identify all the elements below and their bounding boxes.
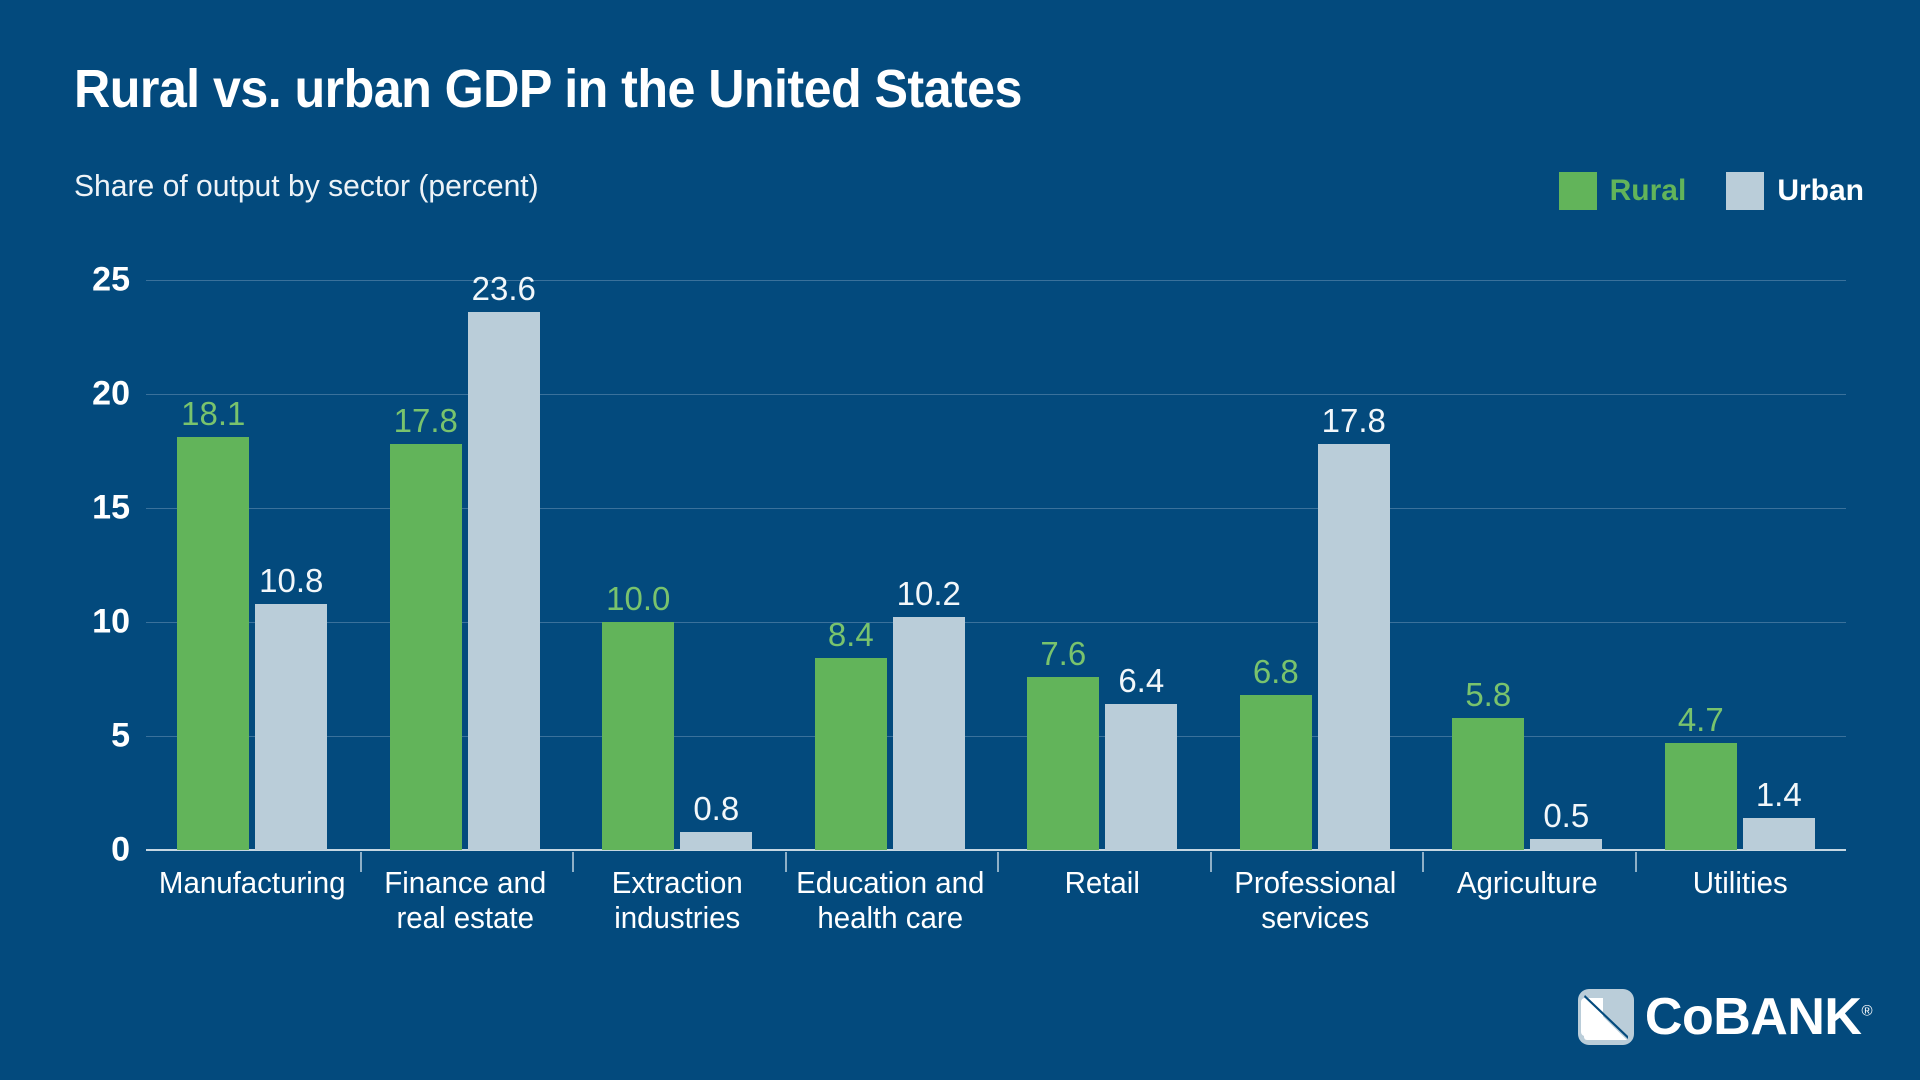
x-axis-label-line: Agriculture: [1430, 866, 1624, 901]
bar-urban[interactable]: [468, 312, 540, 850]
bar-value-label: 0.8: [636, 790, 796, 828]
x-axis-label-line: services: [1218, 901, 1412, 936]
bar-slot-rural: 7.6: [1027, 280, 1099, 850]
x-axis-label-line: industries: [580, 901, 774, 936]
registered-trademark-icon: ®: [1861, 1003, 1872, 1020]
x-axis-labels: ManufacturingFinance andreal estateExtra…: [146, 866, 1846, 935]
x-axis-label-line: Education and: [793, 866, 987, 901]
y-axis-tick-label: 25: [10, 261, 130, 300]
cobank-wordmark-text: CoBANK: [1645, 988, 1862, 1046]
bar-value-label: 0.5: [1486, 797, 1646, 835]
x-axis-label-line: health care: [793, 901, 987, 936]
bar-rural[interactable]: [1027, 677, 1099, 850]
x-axis-label-line: real estate: [368, 901, 562, 936]
bar-slot-urban: 6.4: [1105, 280, 1177, 850]
bar-slot-rural: 17.8: [390, 280, 462, 850]
bar-urban[interactable]: [1318, 444, 1390, 850]
bar-urban[interactable]: [255, 604, 327, 850]
x-axis-label: Utilities: [1639, 866, 1841, 935]
x-axis-label-line: Finance and: [368, 866, 562, 901]
bar-slot-urban: 1.4: [1743, 280, 1815, 850]
x-axis-label-line: Manufacturing: [155, 866, 349, 901]
bar-value-label: 1.4: [1699, 776, 1859, 814]
x-axis-label: Extractionindustries: [576, 866, 778, 935]
bar-group: 7.66.4: [996, 280, 1209, 850]
bar-group: 10.00.8: [571, 280, 784, 850]
bar-group: 18.110.8: [146, 280, 359, 850]
bar-slot-urban: 10.2: [893, 280, 965, 850]
y-axis-tick-label: 20: [10, 375, 130, 414]
bar-slot-rural: 10.0: [602, 280, 674, 850]
bar-groups: 18.110.817.823.610.00.88.410.27.66.46.81…: [146, 280, 1846, 850]
cobank-wordmark: CoBANK®: [1645, 991, 1872, 1043]
bar-rural[interactable]: [1240, 695, 1312, 850]
x-axis-label: Manufacturing: [151, 866, 353, 935]
x-axis-label: Agriculture: [1426, 866, 1628, 935]
bar-urban[interactable]: [1105, 704, 1177, 850]
bar-slot-rural: 5.8: [1452, 280, 1524, 850]
legend-item-rural[interactable]: Rural: [1559, 172, 1687, 210]
bar-value-label: 10.8: [211, 562, 371, 600]
bar-slot-rural: 4.7: [1665, 280, 1737, 850]
bar-slot-urban: 10.8: [255, 280, 327, 850]
x-axis-label-line: Professional: [1218, 866, 1412, 901]
bar-group: 4.71.4: [1634, 280, 1847, 850]
x-axis-label-line: Utilities: [1643, 866, 1837, 901]
page-title: Rural vs. urban GDP in the United States: [74, 58, 1022, 120]
bar-urban[interactable]: [680, 832, 752, 850]
bar-slot-rural: 6.8: [1240, 280, 1312, 850]
x-axis-label: Finance andreal estate: [364, 866, 566, 935]
chart-legend: Rural Urban: [1559, 172, 1864, 210]
bar-slot-rural: 8.4: [815, 280, 887, 850]
chart-subtitle: Share of output by sector (percent): [74, 168, 539, 204]
cobank-logo-mark: [1577, 988, 1635, 1046]
bar-rural[interactable]: [177, 437, 249, 850]
bar-value-label: 10.2: [849, 575, 1009, 613]
x-axis-label-line: Extraction: [580, 866, 774, 901]
x-axis-label: Professionalservices: [1214, 866, 1416, 935]
bar-urban[interactable]: [893, 617, 965, 850]
x-axis-label: Education andhealth care: [789, 866, 991, 935]
bar-slot-urban: 0.5: [1530, 280, 1602, 850]
bar-value-label: 17.8: [1274, 402, 1434, 440]
x-axis-label-line: Retail: [1005, 866, 1199, 901]
legend-label-rural: Rural: [1610, 174, 1687, 208]
x-axis-label: Retail: [1001, 866, 1203, 935]
legend-swatch-rural: [1559, 172, 1597, 210]
bar-group: 5.80.5: [1421, 280, 1634, 850]
bar-slot-urban: 0.8: [680, 280, 752, 850]
bar-group: 8.410.2: [784, 280, 997, 850]
bar-group: 17.823.6: [359, 280, 572, 850]
bar-rural[interactable]: [815, 658, 887, 850]
bar-urban[interactable]: [1530, 839, 1602, 850]
bar-urban[interactable]: [1743, 818, 1815, 850]
bar-slot-urban: 23.6: [468, 280, 540, 850]
bar-slot-urban: 17.8: [1318, 280, 1390, 850]
cobank-logo: CoBANK®: [1577, 988, 1872, 1046]
legend-item-urban[interactable]: Urban: [1726, 172, 1864, 210]
y-axis-tick-label: 5: [10, 717, 130, 756]
bar-value-label: 23.6: [424, 270, 584, 308]
y-axis-tick-label: 0: [10, 831, 130, 870]
y-axis-tick-label: 10: [10, 603, 130, 642]
y-axis-tick-label: 15: [10, 489, 130, 528]
bar-group: 6.817.8: [1209, 280, 1422, 850]
legend-label-urban: Urban: [1777, 174, 1864, 208]
legend-swatch-urban: [1726, 172, 1764, 210]
bar-rural[interactable]: [390, 444, 462, 850]
